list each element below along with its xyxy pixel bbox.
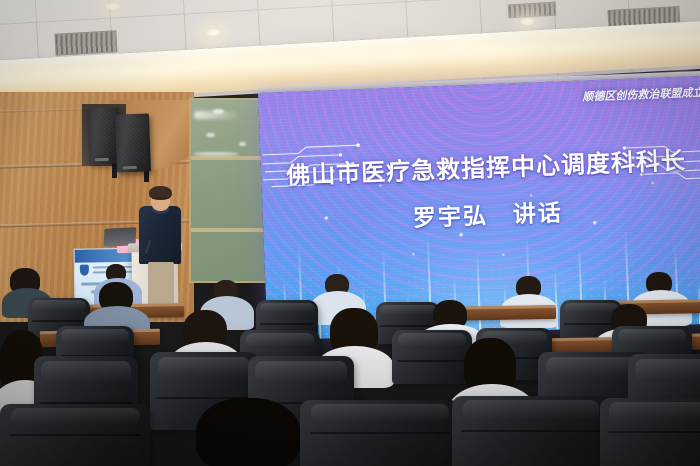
chair-seam [9, 434, 141, 436]
frosted-glass-panel [189, 98, 267, 283]
chair-seam [380, 325, 436, 327]
chair-seam [608, 431, 700, 433]
glass-reflection [213, 109, 224, 114]
audience-chair [300, 400, 460, 466]
speaker-mesh [119, 118, 147, 164]
presenter-torso [139, 206, 181, 264]
ceiling-downlight [519, 17, 536, 26]
conference-photo: 顺德区创伤救治联盟成立大 佛山市医疗急救指挥中心调度科科长 罗宇弘 讲话 [0, 0, 700, 466]
speaker-brand-label [95, 158, 109, 161]
audience-chair [392, 330, 472, 384]
audience-head [196, 398, 300, 466]
audience-chair [452, 396, 610, 466]
ceiling-downlight [104, 2, 121, 11]
speaker-mesh [91, 112, 116, 156]
chair-seam [310, 432, 451, 434]
glass-mullion [191, 228, 265, 232]
glass-reflection [206, 133, 215, 137]
chair-seam [461, 430, 600, 432]
air-vent [54, 30, 117, 55]
screen-sparkle [502, 254, 504, 256]
chair-seam [397, 360, 467, 362]
screen-sparkle [412, 253, 414, 255]
ceiling-downlight [205, 28, 222, 37]
air-vent [508, 2, 557, 19]
chair-seam [32, 320, 87, 322]
glass-mullion [191, 156, 265, 160]
chair-seam [260, 323, 315, 325]
audience-chair [600, 398, 700, 466]
screen-sparkle [460, 233, 463, 236]
glass-reflection [239, 142, 246, 146]
presenter-glasses [152, 197, 169, 199]
wall-speaker [115, 113, 151, 172]
poster-logo-mark [80, 265, 89, 276]
speaker-brand-label [123, 166, 137, 169]
glass-reflection [193, 152, 239, 156]
screen-sparkle [652, 182, 654, 184]
audience-chair [0, 404, 150, 466]
